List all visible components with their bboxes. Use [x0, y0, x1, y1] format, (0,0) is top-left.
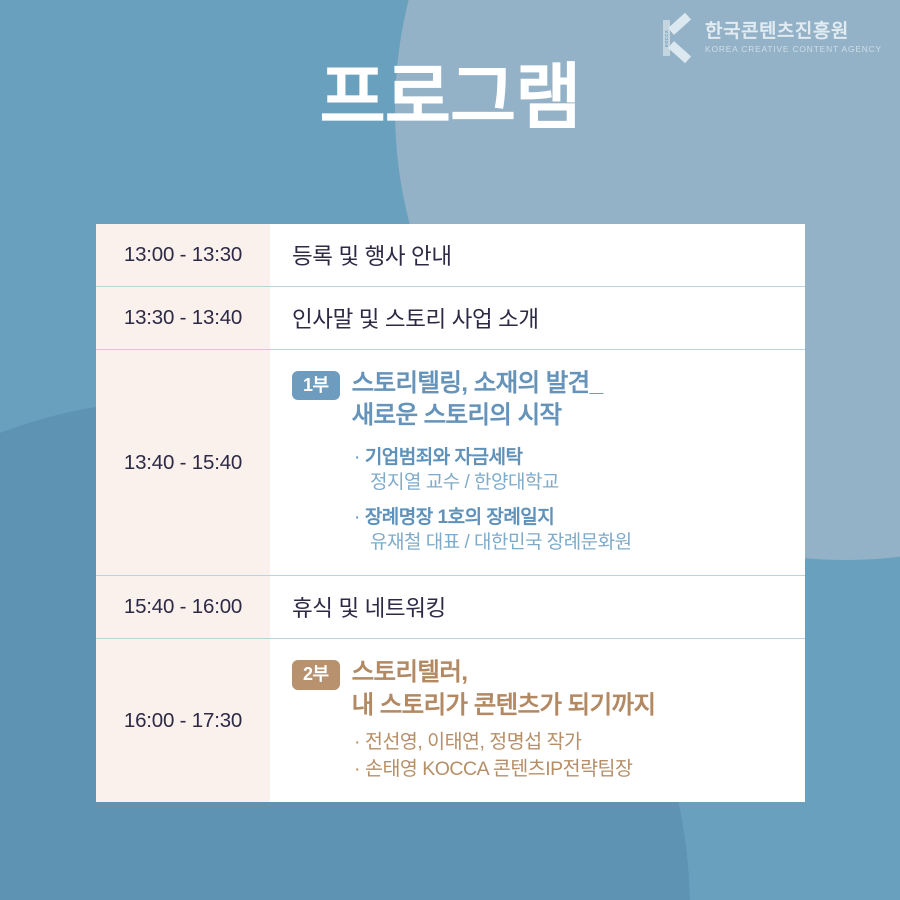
row-time: 13:00 - 13:30: [96, 224, 270, 286]
kocca-k-mark-icon: KOCCA: [663, 20, 696, 56]
session-title: 스토리텔러, 내 스토리가 콘텐츠가 되기까지: [352, 657, 656, 722]
speaker-name: 유재철 대표 / 대한민국 장례문화원: [354, 530, 783, 555]
row-time: 16:00 - 17:30: [96, 639, 270, 802]
row-content: 등록 및 행사 안내: [270, 224, 805, 286]
bullet-icon: ·: [354, 758, 360, 780]
speaker-name: ·전선영, 이태연, 정명섭 작가: [354, 729, 783, 755]
bullet-icon: ·: [354, 447, 360, 468]
kocca-logo-name-ko: 한국콘텐츠진흥원: [705, 22, 882, 41]
bullet-icon: ·: [354, 507, 360, 528]
row-content: 휴식 및 네트워킹: [270, 576, 805, 638]
list-item: ·장례명장 1호의 장례일지 유재철 대표 / 대한민국 장례문화원: [354, 505, 783, 556]
page-title: 프로그램: [0, 62, 900, 134]
kocca-logo: KOCCA 한국콘텐츠진흥원 KOREA CREATIVE CONTENT AG…: [663, 20, 882, 56]
speaker-list: ·전선영, 이태연, 정명섭 작가 ·손태영 KOCCA 콘텐츠IP전략팀장: [354, 729, 783, 782]
row-content: 인사말 및 스토리 사업 소개: [270, 287, 805, 349]
kocca-logo-k-glyph-icon: [670, 20, 696, 56]
speaker-topic-text: 장례명장 1호의 장례일지: [365, 507, 554, 528]
table-row: 13:00 - 13:30 등록 및 행사 안내: [96, 224, 805, 287]
kocca-logo-name-en: KOREA CREATIVE CONTENT AGENCY: [705, 45, 882, 53]
table-row-session-2: 16:00 - 17:30 2부 스토리텔러, 내 스토리가 콘텐츠가 되기까지…: [96, 639, 805, 802]
row-content: 1부 스토리텔링, 소재의 발견_ 새로운 스토리의 시작 ·기업범죄와 자금세…: [270, 350, 805, 575]
table-row: 13:30 - 13:40 인사말 및 스토리 사업 소개: [96, 287, 805, 350]
program-poster: KOCCA 한국콘텐츠진흥원 KOREA CREATIVE CONTENT AG…: [0, 0, 900, 900]
session-header: 1부 스토리텔링, 소재의 발견_ 새로운 스토리의 시작: [292, 368, 783, 433]
schedule-table: 13:00 - 13:30 등록 및 행사 안내 13:30 - 13:40 인…: [96, 224, 805, 802]
table-row-session-1: 13:40 - 15:40 1부 스토리텔링, 소재의 발견_ 새로운 스토리의…: [96, 350, 805, 576]
session-badge: 2부: [292, 660, 340, 689]
table-row: 15:40 - 16:00 휴식 및 네트워킹: [96, 576, 805, 639]
speaker-name-text: 전선영, 이태연, 정명섭 작가: [365, 731, 581, 753]
kocca-logo-mark-label: KOCCA: [664, 29, 669, 46]
row-time: 13:40 - 15:40: [96, 350, 270, 575]
speaker-topic: ·기업범죄와 자금세탁: [354, 445, 783, 470]
bullet-icon: ·: [354, 731, 360, 753]
session-body: ·전선영, 이태연, 정명섭 작가 ·손태영 KOCCA 콘텐츠IP전략팀장: [292, 722, 783, 782]
speaker-name: ·손태영 KOCCA 콘텐츠IP전략팀장: [354, 756, 783, 782]
speaker-topic-text: 기업범죄와 자금세탁: [365, 447, 523, 468]
row-content: 2부 스토리텔러, 내 스토리가 콘텐츠가 되기까지 ·전선영, 이태연, 정명…: [270, 639, 805, 802]
speaker-list: ·기업범죄와 자금세탁 정지열 교수 / 한양대학교 ·장례명장 1호의 장례일…: [354, 445, 783, 556]
speaker-name: 정지열 교수 / 한양대학교: [354, 470, 783, 495]
list-item: ·기업범죄와 자금세탁 정지열 교수 / 한양대학교: [354, 445, 783, 496]
row-time: 13:30 - 13:40: [96, 287, 270, 349]
kocca-logo-text: 한국콘텐츠진흥원 KOREA CREATIVE CONTENT AGENCY: [705, 22, 882, 53]
list-item: ·전선영, 이태연, 정명섭 작가: [354, 729, 783, 755]
session-body: ·기업범죄와 자금세탁 정지열 교수 / 한양대학교 ·장례명장 1호의 장례일…: [292, 433, 783, 556]
speaker-topic: ·장례명장 1호의 장례일지: [354, 505, 783, 530]
session-title: 스토리텔링, 소재의 발견_ 새로운 스토리의 시작: [352, 368, 603, 433]
row-time: 15:40 - 16:00: [96, 576, 270, 638]
speaker-name-text: 손태영 KOCCA 콘텐츠IP전략팀장: [365, 758, 632, 780]
list-item: ·손태영 KOCCA 콘텐츠IP전략팀장: [354, 756, 783, 782]
session-badge: 1부: [292, 371, 340, 400]
session-header: 2부 스토리텔러, 내 스토리가 콘텐츠가 되기까지: [292, 657, 783, 722]
